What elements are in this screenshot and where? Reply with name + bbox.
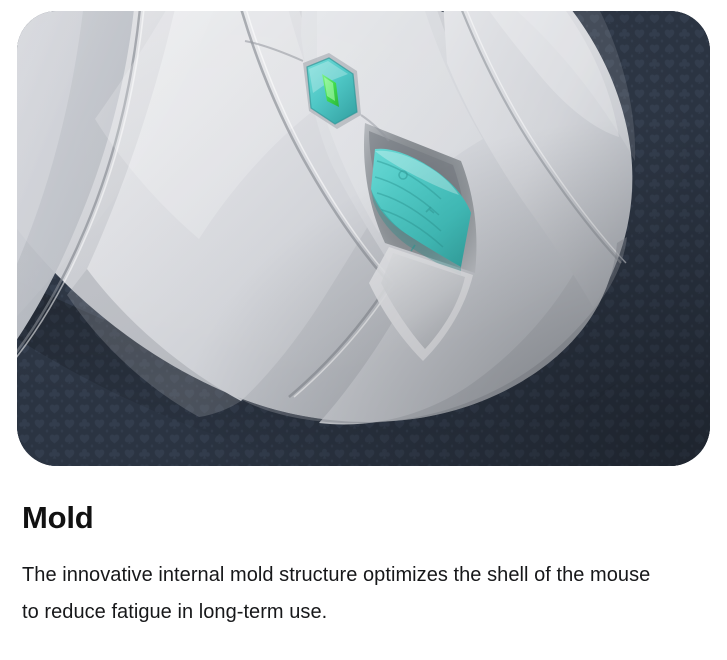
- feature-description: The innovative internal mold structure o…: [22, 557, 662, 631]
- product-photo-mouse: [17, 11, 710, 466]
- feature-block: Mold The innovative internal mold struct…: [0, 0, 727, 660]
- feature-title: Mold: [22, 498, 682, 538]
- caption-block: Mold The innovative internal mold struct…: [22, 498, 682, 631]
- product-image-card: [17, 11, 710, 466]
